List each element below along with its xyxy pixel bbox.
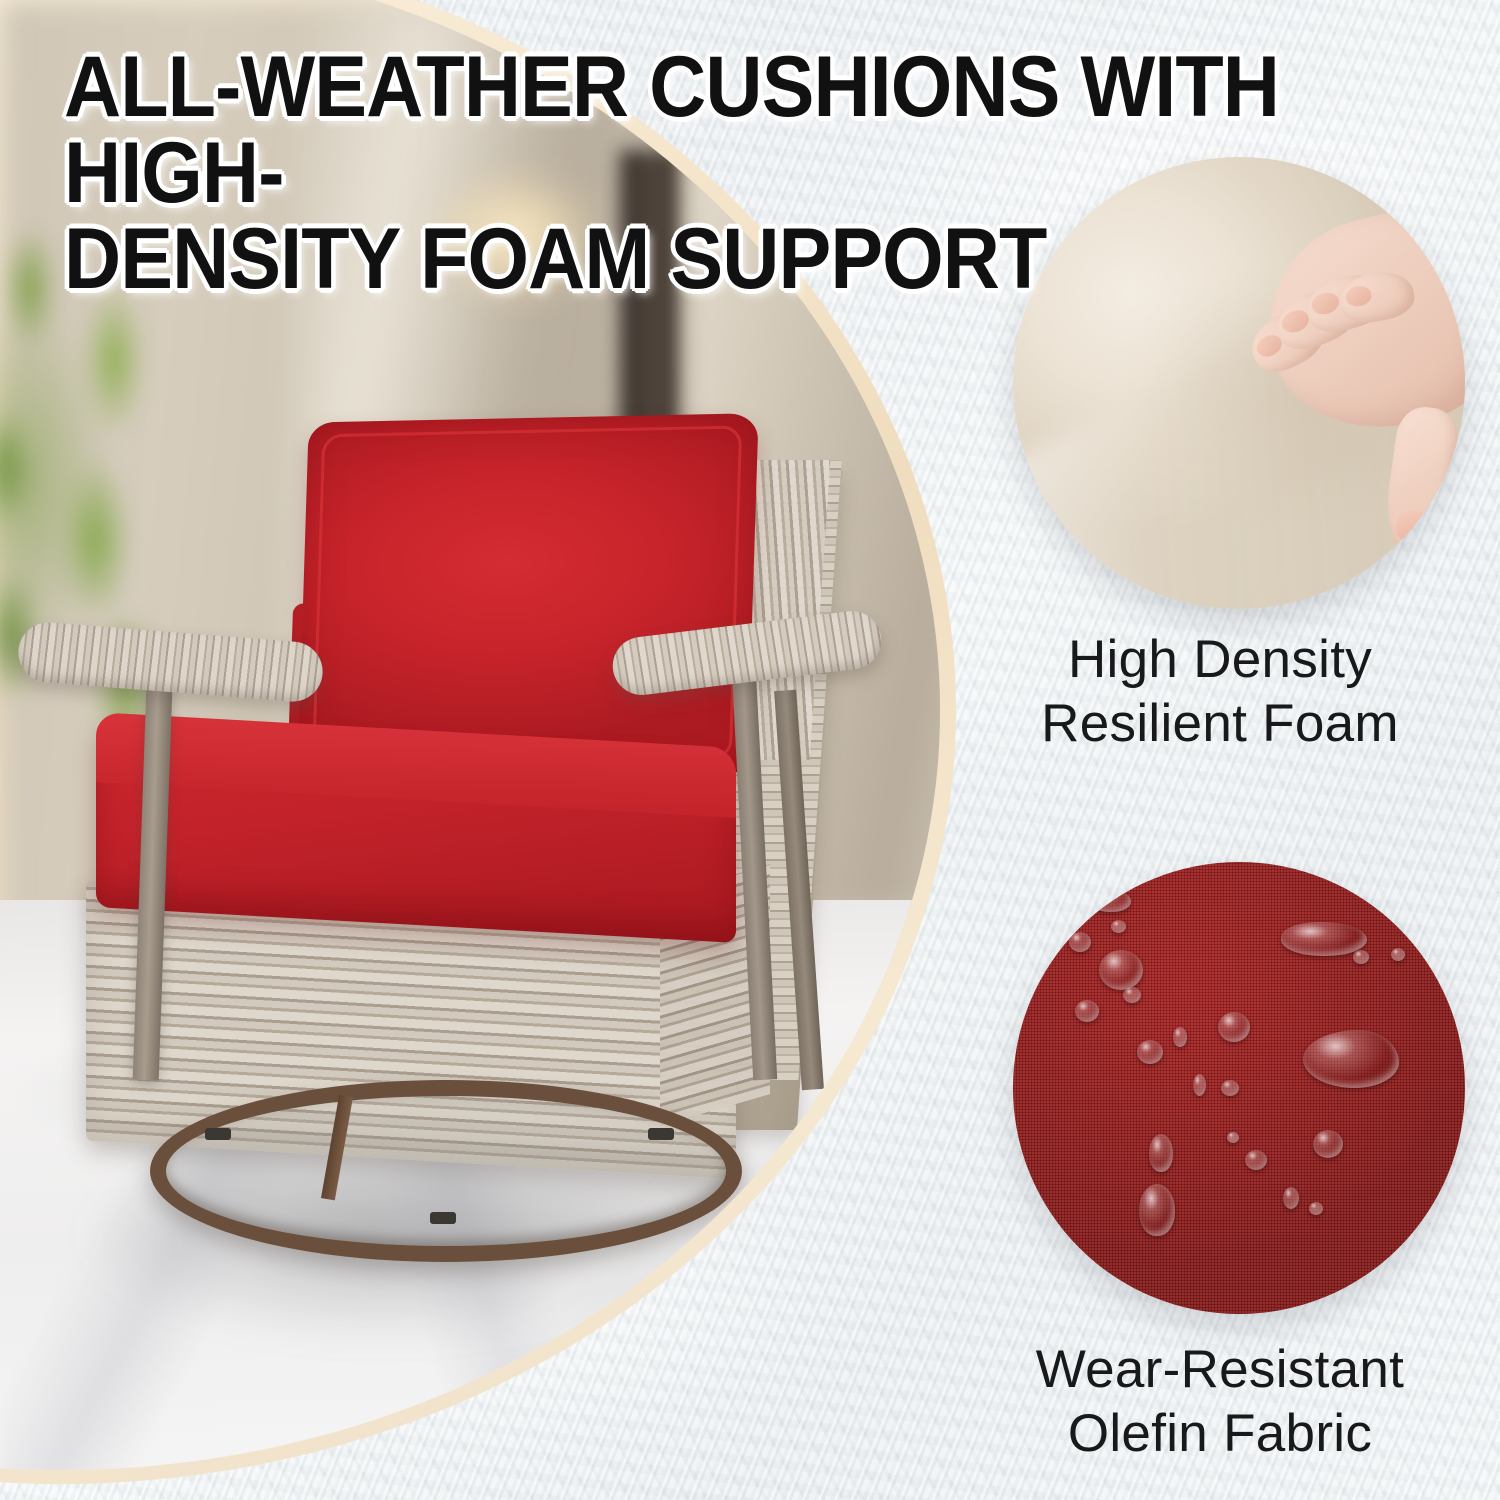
marketing-banner: High Density Resilient Foam Wear-Resista… [0,0,1500,1500]
feature-caption-foam-line2: Resilient Foam [940,692,1500,756]
water-droplet [1123,987,1141,1003]
water-droplet [1281,922,1367,956]
swivel-foot-center [430,1212,456,1224]
swivel-foot-right [648,1128,674,1140]
swivel-ring-base [150,1080,742,1262]
water-droplet [1139,1184,1175,1236]
feature-caption-foam: High Density Resilient Foam [940,628,1500,756]
water-droplet [1173,1027,1187,1047]
feature-caption-fabric-line2: Olefin Fabric [940,1402,1500,1466]
swivel-foot-left [205,1128,231,1140]
feature-image-fabric [1013,862,1465,1314]
page-title-line1: ALL-WEATHER CUSHIONS WITH HIGH- [64,44,1306,216]
water-droplet [1218,1012,1250,1042]
water-droplet [1069,932,1091,952]
feature-caption-fabric-line1: Wear-Resistant [940,1338,1500,1402]
water-droplet [1313,1130,1343,1158]
water-droplet [1137,1040,1163,1064]
water-droplet [1227,1132,1239,1143]
water-droplet [1303,1030,1399,1088]
water-droplet [1075,1000,1099,1022]
feature-caption-foam-line1: High Density [940,628,1500,692]
water-droplet [1193,1074,1206,1096]
fabric-weave-texture [1013,862,1465,1314]
water-droplet [1221,1080,1239,1096]
water-droplet [1283,1187,1299,1209]
water-droplet [1245,1150,1267,1170]
water-droplet [1149,1134,1173,1172]
water-droplet [1391,948,1405,961]
armrest-left [16,620,325,704]
water-droplet [1099,950,1143,990]
water-droplet [1111,920,1126,933]
page-title-line2: DENSITY FOAM SUPPORT [64,216,1306,302]
feature-caption-fabric: Wear-Resistant Olefin Fabric [940,1338,1500,1466]
water-droplet [1091,890,1131,912]
water-droplet [1353,950,1369,964]
water-droplet [1309,1202,1323,1215]
thumb [1380,403,1462,560]
page-title: ALL-WEATHER CUSHIONS WITH HIGH- DENSITY … [64,44,1306,302]
